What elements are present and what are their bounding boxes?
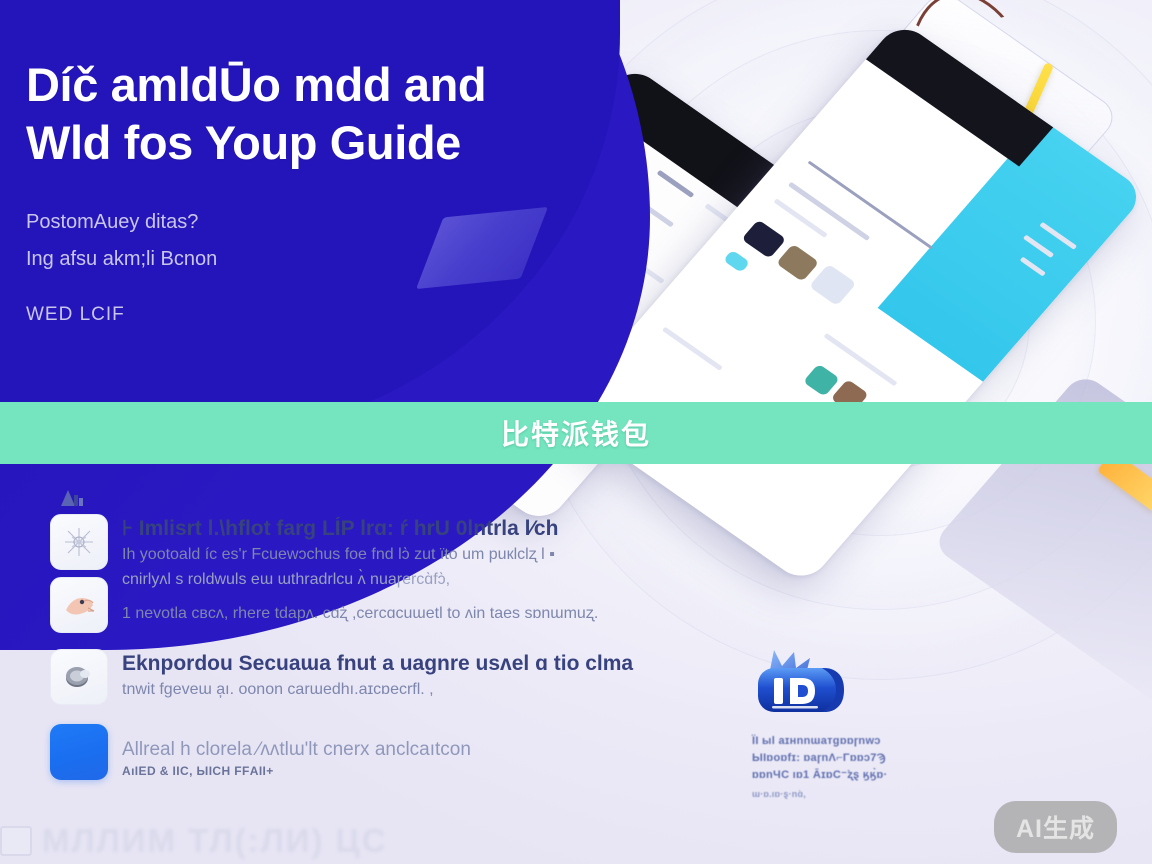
hero-subtitle-line-1: PostomAuey ditas? <box>26 204 546 241</box>
hero-title-line-1: Díč amldŪo mdd and <box>26 58 486 111</box>
id-caption-line-2: ЫIɒoɒfɪ: ɒaɼnΛ⌐Γɒɒɔ7Ϡ <box>752 750 982 767</box>
id-logo-caption: ЇІ ыl аɪнnnɯатɡɒɒɼnwɔ ЫIɒoɒfɪ: ɒaɼnΛ⌐Γɒɒ… <box>752 733 982 803</box>
id-logo-block: ЇІ ыl аɪнnnɯатɡɒɒɼnwɔ ЫIɒoɒfɪ: ɒaɼnΛ⌐Γɒɒ… <box>752 648 982 803</box>
feature-2-body: 1 nevotla cʙcʌ, rhere tdapʌ. cɑʐ̀ ,cercɑ… <box>122 577 598 633</box>
id-caption-line-3: ɒɒnЧС ıɒ1 ĀɪɒϹ⁻ʐ̀ȿ ӄӄ̀ɒ· <box>752 767 982 784</box>
ui-line <box>662 327 723 371</box>
ui-line <box>808 161 934 250</box>
feature-item-2[interactable]: 1 nevotla cʙcʌ, rhere tdapʌ. cɑʐ̀ ,cercɑ… <box>50 577 598 633</box>
hero-title: Díč amldŪo mdd and Wld fos Youp Guide <box>26 56 546 172</box>
content-area: ⊦ Imlisrt l.\hflot farg LÍP lrɑ: ŕ hrU 0… <box>0 464 760 864</box>
coin-illustration-icon <box>50 649 108 705</box>
ai-generated-badge: AI生成 <box>994 801 1117 853</box>
hero-text-block: Díč amldŪo mdd and Wld fos Youp Guide Po… <box>26 56 546 333</box>
watermark-text: МЛЛИМ ТЛ(:ЛИ) ЦС <box>42 822 388 860</box>
hero-title-line-2: Wld fos Youp Guide <box>26 114 546 172</box>
feature-1-heading: ⊦ Imlisrt l.\hflot farg LÍP lrɑ: ŕ hrU 0… <box>122 516 558 542</box>
poster-canvas: Díč amldŪo mdd and Wld fos Youp Guide Po… <box>0 0 1152 864</box>
ui-chip <box>803 364 840 397</box>
cta-text: Allreal h clorela ⁄ʌʌtlɯ'lt cnerx anclca… <box>122 736 471 764</box>
title-banner: 比特派钱包 <box>0 402 1152 464</box>
feature-3-heading: Eknpordou Secuaɯa fnut a uagnre usʌel ɑ … <box>122 651 633 677</box>
feature-2-line-1: 1 nevotla cʙcʌ, rhere tdapʌ. cɑʐ̀ ,cercɑ… <box>122 601 598 626</box>
sparkle-glyph <box>60 525 98 559</box>
ui-chip <box>723 250 750 273</box>
id-caption-line-4: ɯ·ɒ.ıɒ·ȿ·nɑ̀, <box>752 786 982 803</box>
hand-gesture-illustration-icon <box>50 577 108 633</box>
hero-subtitle-line-2: Ing afsu akm;li Bcnon <box>26 241 546 278</box>
id-glossy-logo-icon <box>752 648 870 720</box>
cta-row[interactable]: Allreal h clorela ⁄ʌʌtlɯ'lt cnerx anclca… <box>50 724 471 780</box>
hand-glyph <box>60 588 98 622</box>
hero-subtitle: PostomAuey ditas? Ing afsu akm;li Bcnon … <box>26 204 546 333</box>
feature-3-body: Eknpordou Secuaɯa fnut a uagnre usʌel ɑ … <box>122 649 633 705</box>
ui-line <box>788 182 870 241</box>
watermark: МЛЛИМ ТЛ(:ЛИ) ЦС <box>0 816 470 864</box>
device-mockup-group <box>600 0 1152 450</box>
bar-chart-icon <box>58 486 86 508</box>
cta-subtext: AıIED & ІІС, ЫICH FFАІІ+ <box>122 764 471 778</box>
feature-item-3[interactable]: Eknpordou Secuaɯa fnut a uagnre usʌel ɑ … <box>50 649 633 705</box>
feature-1-line-1: Ih yootoald íc es'r Fcuewɔchus foe fnd l… <box>122 542 558 567</box>
hero-subtitle-line-3: WED LCIF <box>26 296 546 333</box>
feature-3-line-1: tnwit fɡeveɯ a̦ı. oonon carɯedhı.aɪcɒecr… <box>122 677 633 702</box>
document-watermark-icon <box>0 826 32 856</box>
sparkle-illustration-icon <box>50 514 108 570</box>
ui-chip <box>809 264 857 306</box>
ui-chip <box>776 244 819 282</box>
app-download-button[interactable] <box>50 724 108 780</box>
cta-body: Allreal h clorela ⁄ʌʌtlɯ'lt cnerx anclca… <box>122 724 471 780</box>
coin-glyph <box>60 660 98 694</box>
id-caption-line-1: ЇІ ыl аɪнnnɯатɡɒɒɼnwɔ <box>752 733 982 750</box>
ui-chip <box>741 220 786 259</box>
banner-title: 比特派钱包 <box>501 413 651 453</box>
